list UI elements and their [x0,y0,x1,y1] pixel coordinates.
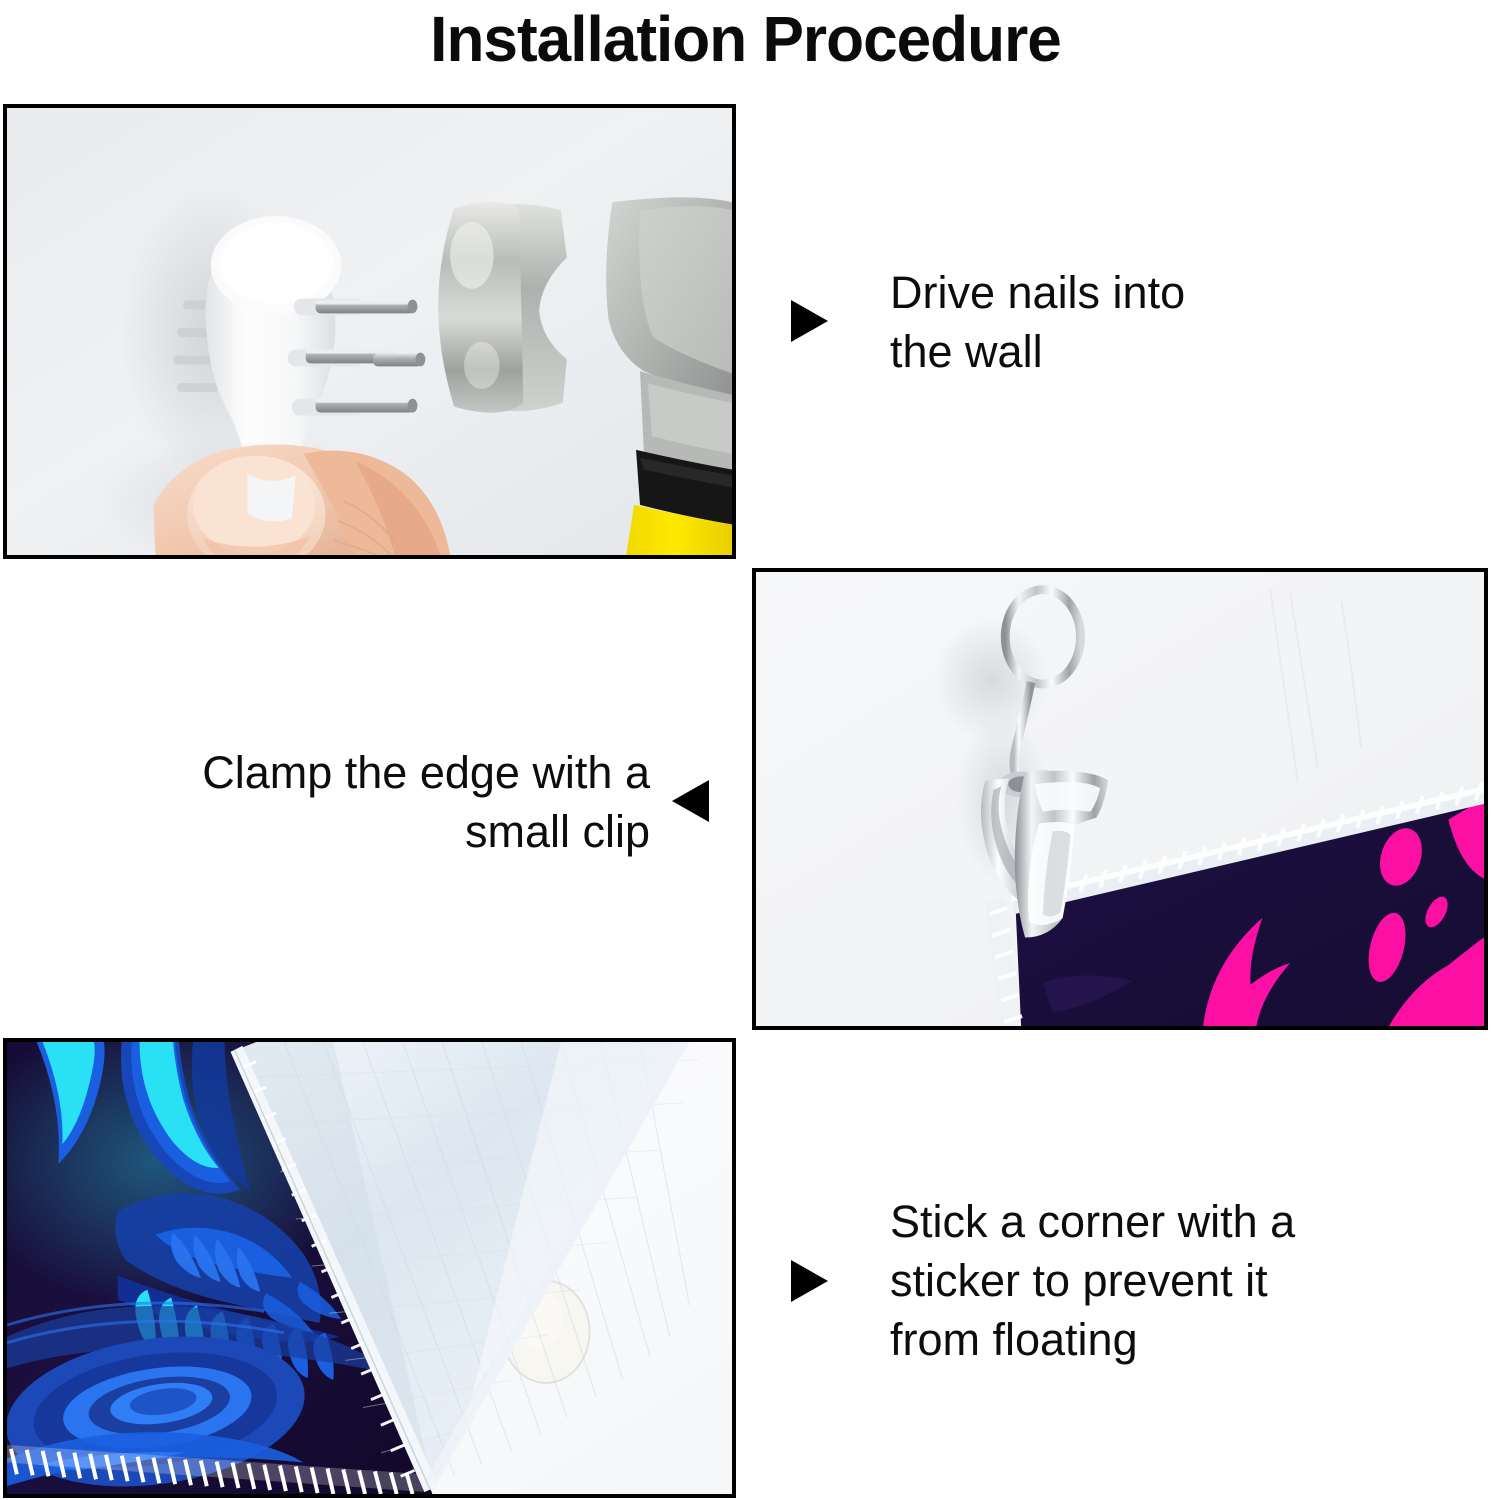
step-1-caption: Drive nails into the wall [890,263,1310,381]
step-2-caption: Clamp the edge with a small clip [60,743,650,861]
triangle-right-icon [791,300,828,342]
step-3-caption: Stick a corner with a sticker to prevent… [890,1192,1360,1369]
installation-procedure-infographic: Installation Procedure [0,0,1491,1500]
page-title: Installation Procedure [22,2,1468,76]
photo-clip-holding-tapestry-corner [752,568,1488,1030]
clip-tapestry-illustration [756,572,1484,1026]
hammer-nail-illustration [7,108,732,555]
folded-corner-sticker-illustration [7,1042,732,1494]
photo-corner-folded-with-sticker [3,1038,736,1498]
photo-hammer-and-nail-hook [3,104,736,559]
triangle-right-icon [791,1260,828,1302]
triangle-left-icon [672,780,709,822]
